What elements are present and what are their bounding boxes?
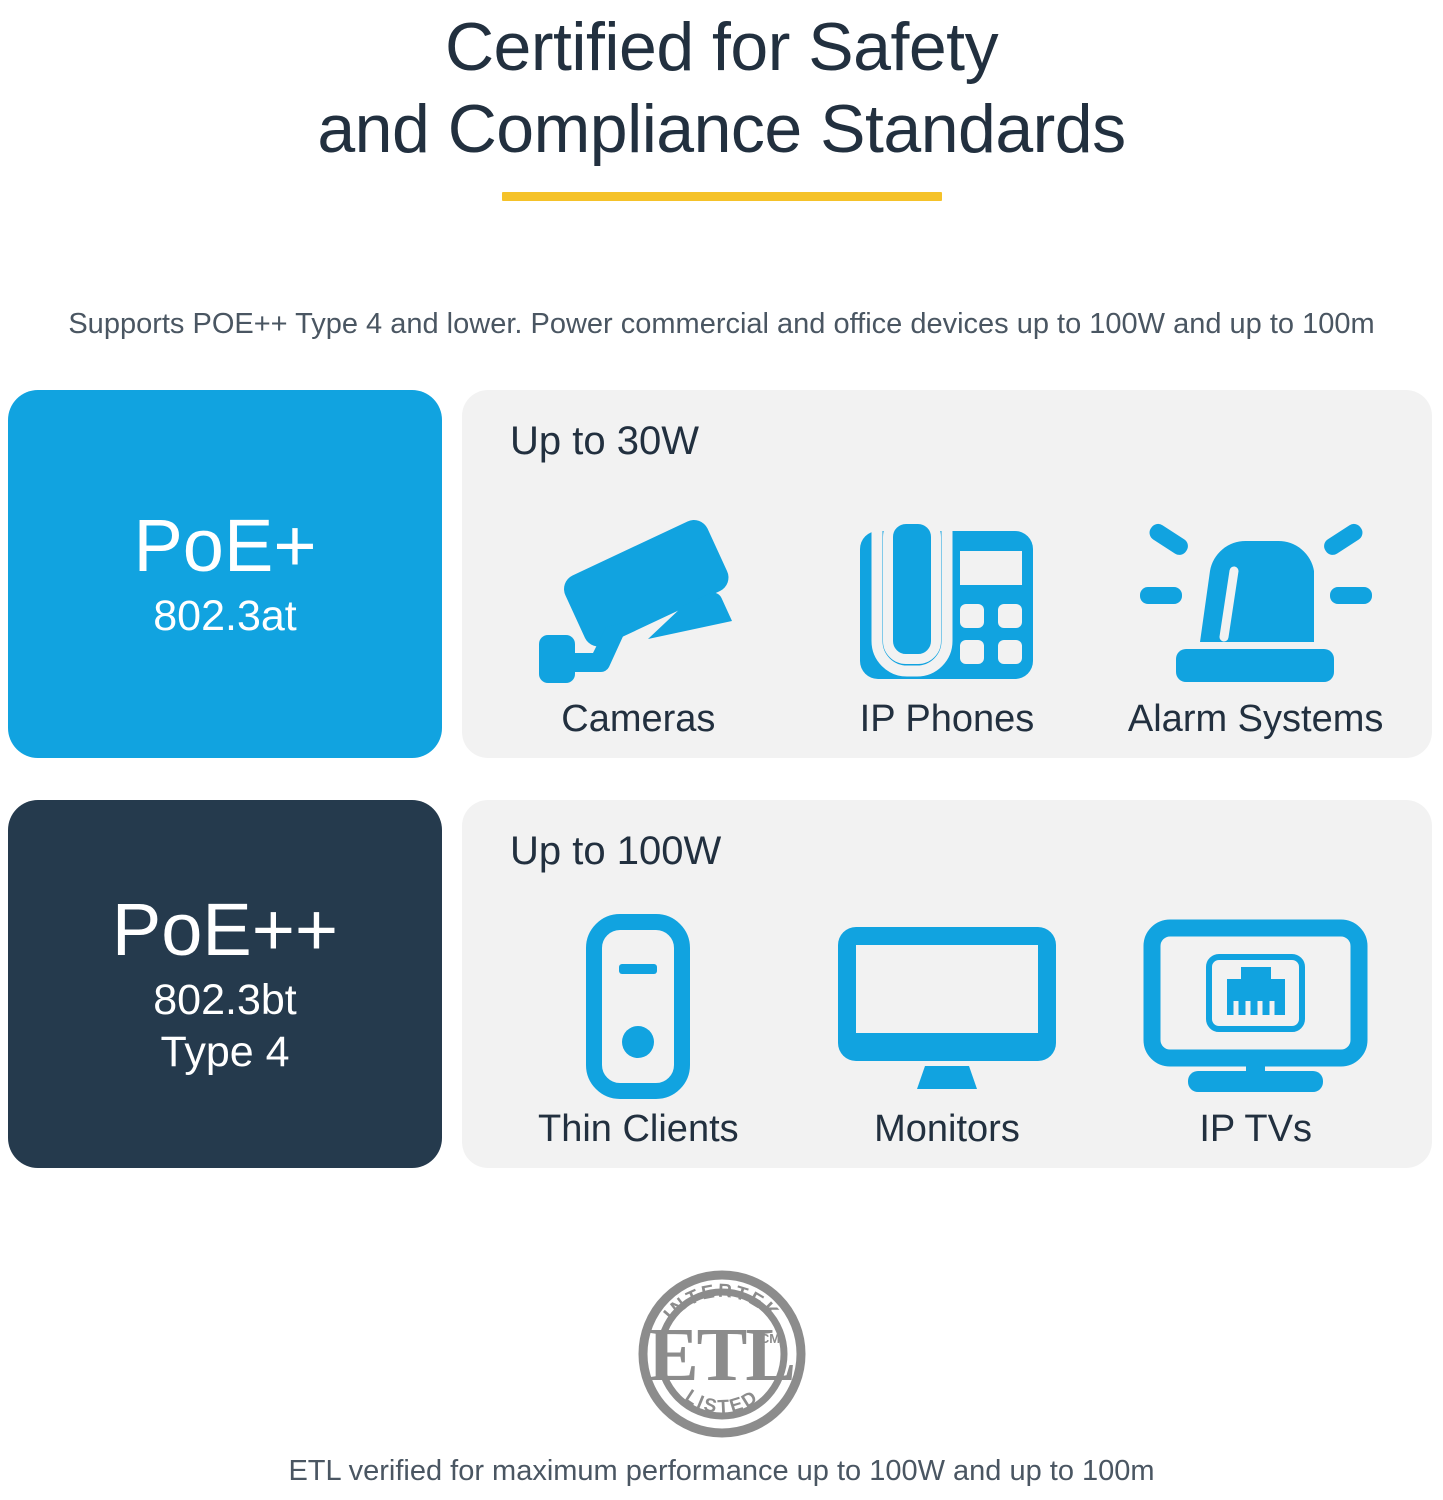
- device-label-monitors: Monitors: [874, 1106, 1020, 1152]
- page-subtitle: Supports POE++ Type 4 and lower. Power c…: [0, 305, 1443, 343]
- poe-plusplus-row: PoE++ 802.3bt Type 4 Up to 100W Thin Cli…: [0, 800, 1443, 1168]
- etl-seal-mark-text: CM: [759, 1331, 779, 1346]
- title-accent-bar: [502, 192, 942, 201]
- poe-plusplus-power-heading: Up to 100W: [510, 826, 721, 876]
- device-item-monitors: Monitors: [797, 916, 1097, 1152]
- poe-plus-device-list: Cameras: [484, 480, 1410, 742]
- device-item-ip-phones: IP Phones: [797, 506, 1097, 742]
- device-label-cameras: Cameras: [561, 696, 715, 742]
- poe-plusplus-badge-card: PoE++ 802.3bt Type 4: [8, 800, 442, 1168]
- poe-plus-row: PoE+ 802.3at Up to 30W: [0, 390, 1443, 758]
- device-item-ip-tvs: IP TVs: [1106, 916, 1406, 1152]
- ip-tv-icon: [1143, 916, 1368, 1096]
- monitor-icon: [832, 916, 1062, 1096]
- page-title-line-1: Certified for Safety: [0, 0, 1443, 88]
- poe-plusplus-badge-title: PoE++: [112, 890, 338, 970]
- device-label-ip-phones: IP Phones: [860, 696, 1035, 742]
- poe-plus-power-heading: Up to 30W: [510, 416, 699, 466]
- ip-phone-icon: [844, 506, 1049, 686]
- poe-plusplus-badge-standard: 802.3bt: [153, 974, 296, 1026]
- device-item-alarm-systems: Alarm Systems: [1106, 506, 1406, 742]
- device-label-alarm-systems: Alarm Systems: [1128, 696, 1383, 742]
- device-item-thin-clients: Thin Clients: [488, 916, 788, 1152]
- etl-certification-seal: INTERTEK LISTED ETL CM: [0, 1268, 1443, 1440]
- alarm-siren-icon: [1138, 506, 1373, 686]
- device-label-ip-tvs: IP TVs: [1199, 1106, 1312, 1152]
- poe-plus-badge-standard: 802.3at: [153, 590, 296, 642]
- page-title-line-2: and Compliance Standards: [0, 88, 1443, 170]
- etl-seal-center-text: ETL: [647, 1313, 793, 1397]
- poe-plusplus-devices-panel: Up to 100W Thin Clients: [462, 800, 1432, 1168]
- page-header: Certified for Safety and Compliance Stan…: [0, 0, 1443, 201]
- poe-plus-badge-card: PoE+ 802.3at: [8, 390, 442, 758]
- security-camera-icon: [531, 506, 746, 686]
- etl-footer-note: ETL verified for maximum performance up …: [0, 1452, 1443, 1490]
- poe-plus-badge-title: PoE+: [133, 506, 316, 586]
- poe-plusplus-badge-type: Type 4: [160, 1026, 289, 1078]
- poe-plusplus-device-list: Thin Clients Monitors: [484, 890, 1410, 1152]
- thin-client-icon: [583, 916, 693, 1096]
- device-label-thin-clients: Thin Clients: [538, 1106, 739, 1152]
- device-item-cameras: Cameras: [488, 506, 788, 742]
- poe-plus-devices-panel: Up to 30W: [462, 390, 1432, 758]
